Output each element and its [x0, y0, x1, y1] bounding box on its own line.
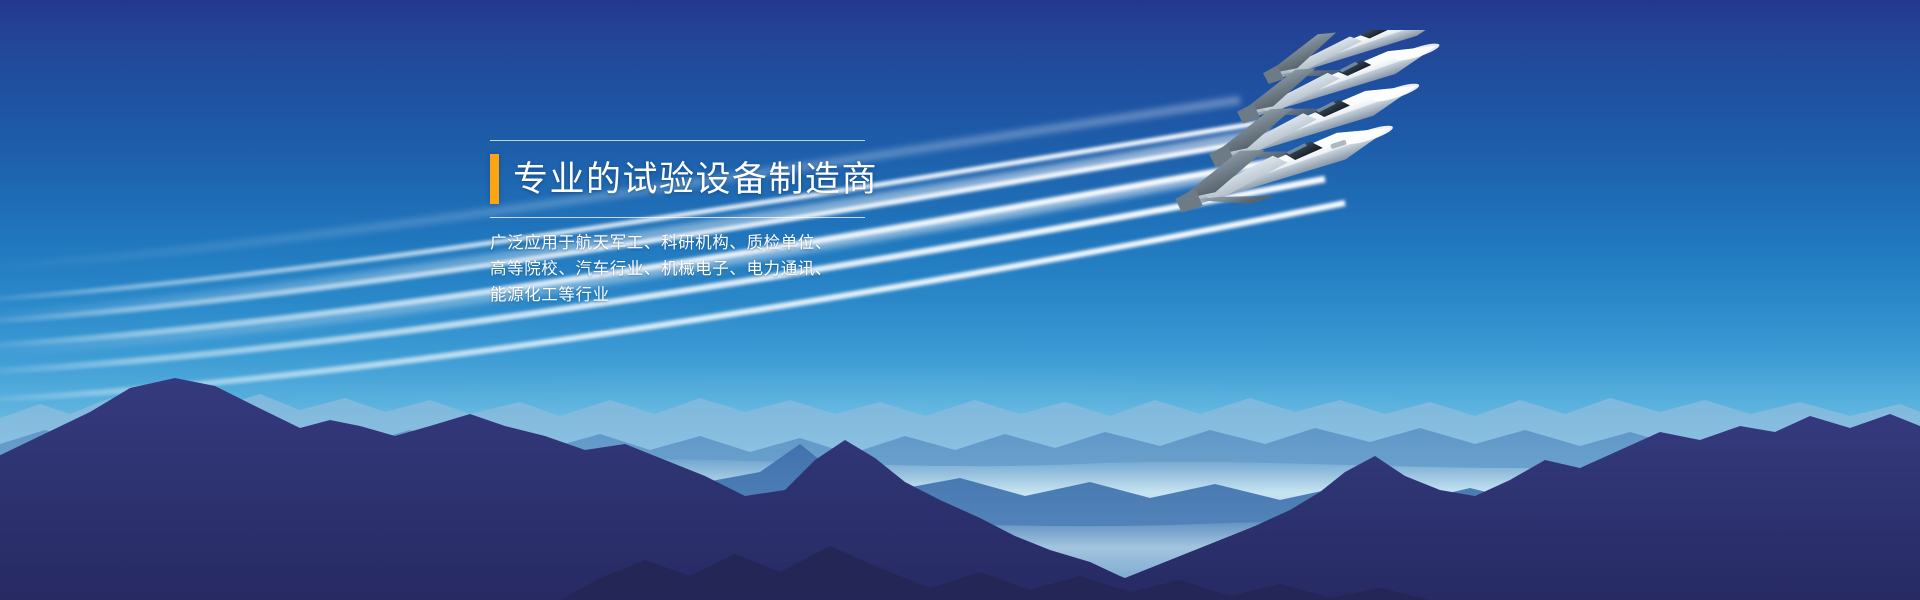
- mountain-range-silhouette: [0, 340, 1920, 600]
- hero-banner: 专业的试验设备制造商 广泛应用于航天军工、科研机构、质检单位、 高等院校、汽车行…: [0, 0, 1920, 600]
- divider-line-bottom: [490, 217, 865, 218]
- subtitle-line-3: 能源化工等行业: [490, 282, 890, 308]
- headline-row: 专业的试验设备制造商: [490, 151, 890, 207]
- page-title: 专业的试验设备制造商: [513, 162, 878, 197]
- orange-accent-bar-icon: [490, 154, 499, 204]
- subtitle-block: 广泛应用于航天军工、科研机构、质检单位、 高等院校、汽车行业、机械电子、电力通讯…: [490, 230, 890, 308]
- subtitle-line-2: 高等院校、汽车行业、机械电子、电力通讯、: [490, 256, 890, 282]
- fighter-jet-formation-icon: [1120, 30, 1540, 290]
- divider-line-top: [490, 140, 865, 141]
- subtitle-line-1: 广泛应用于航天军工、科研机构、质检单位、: [490, 230, 890, 256]
- hero-copy-block: 专业的试验设备制造商 广泛应用于航天军工、科研机构、质检单位、 高等院校、汽车行…: [490, 140, 890, 308]
